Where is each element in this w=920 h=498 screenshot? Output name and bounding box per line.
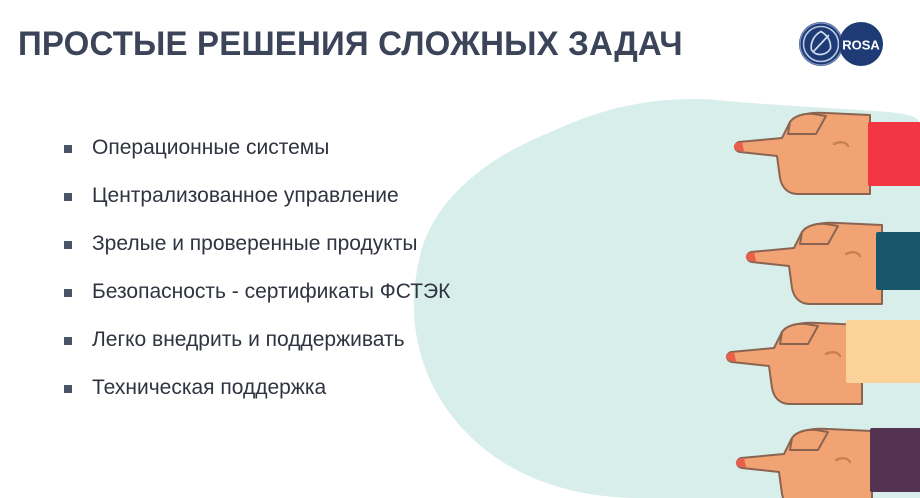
color-block-1 [868,122,920,186]
list-item-label: Централизованное управление [92,182,399,209]
list-item: Операционные системы [64,134,624,182]
list-item: Техническая поддержка [64,374,624,422]
list-item: Безопасность - сертификаты ФСТЭК [64,278,624,326]
slide-canvas: ПРОСТЫЕ РЕШЕНИЯ СЛОЖНЫХ ЗАДАЧ ROSA Опера… [0,0,920,498]
rosa-wordmark-icon: ROSA [838,21,884,67]
list-item-label: Зрелые и проверенные продукты [92,230,417,257]
title-row: ПРОСТЫЕ РЕШЕНИЯ СЛОЖНЫХ ЗАДАЧ ROSA [18,16,902,72]
list-item: Централизованное управление [64,182,624,230]
rosa-wordmark-text: ROSA [842,38,880,53]
list-item-label: Операционные системы [92,134,329,161]
square-bullet-icon [64,193,72,201]
pointing-hand-4-icon [732,420,882,498]
square-bullet-icon [64,145,72,153]
list-item-label: Безопасность - сертификаты ФСТЭК [92,278,450,305]
pointing-hand-2-icon [742,214,892,310]
pointing-hand-1-icon [730,104,880,200]
square-bullet-icon [64,337,72,345]
list-item-label: Техническая поддержка [92,374,326,401]
page-title: ПРОСТЫЕ РЕШЕНИЯ СЛОЖНЫХ ЗАДАЧ [18,25,683,64]
list-item: Легко внедрить и поддерживать [64,326,624,374]
square-bullet-icon [64,241,72,249]
color-block-2 [876,232,920,290]
list-item: Зрелые и проверенные продукты [64,230,624,278]
square-bullet-icon [64,385,72,393]
feature-list: Операционные системы Централизованное уп… [64,134,624,422]
square-bullet-icon [64,289,72,297]
list-item-label: Легко внедрить и поддерживать [92,326,405,353]
color-block-3 [846,320,920,383]
rosa-logo: ROSA [798,21,884,67]
color-block-4 [870,428,920,492]
